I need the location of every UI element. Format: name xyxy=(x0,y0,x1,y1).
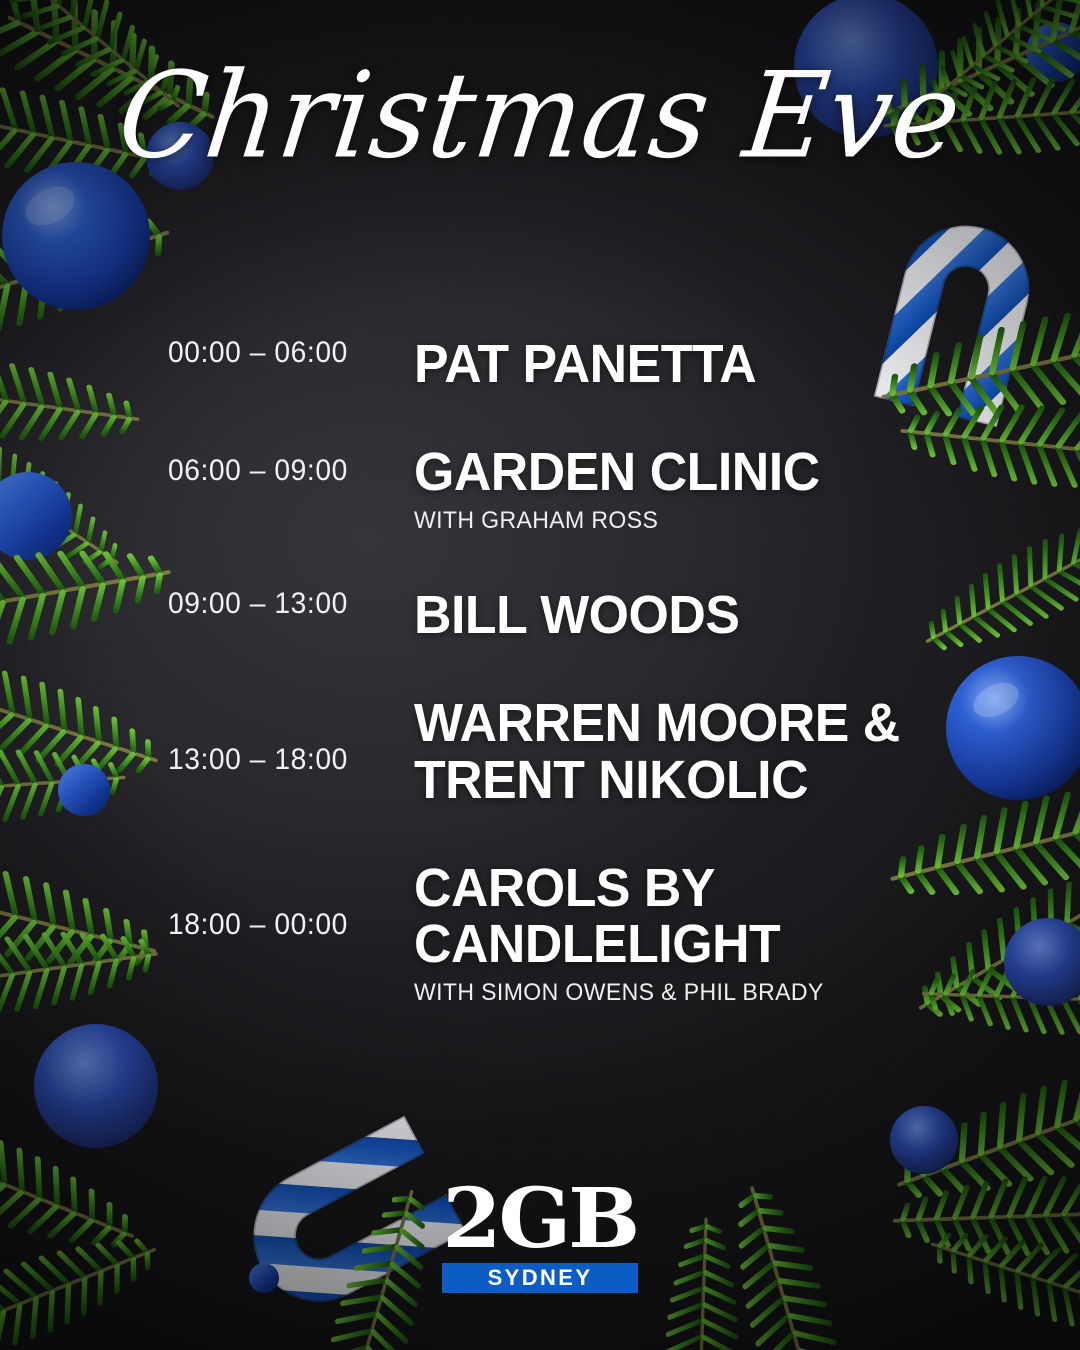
slot-body: CAROLS BY CANDLELIGHT WITH SIMON OWENS &… xyxy=(406,860,928,1007)
station-logo-city-bar: SYDNEY xyxy=(442,1263,638,1293)
slot-show-name: BILL WOODS xyxy=(414,587,907,643)
schedule-row: 06:00 – 09:00 GARDEN CLINIC WITH GRAHAM … xyxy=(168,444,928,535)
slot-body: PAT PANETTA xyxy=(406,336,928,392)
bauble-glitter-right-lower xyxy=(1004,918,1080,1006)
poster-title-wrap: Christmas Eve xyxy=(0,58,1080,174)
bauble-matte-right xyxy=(946,656,1080,800)
schedule-row: 13:00 – 18:00 WARREN MOORE & TRENT NIKOL… xyxy=(168,695,928,807)
station-logo-mark: 2GB xyxy=(443,1182,638,1257)
bauble-small-left xyxy=(0,472,72,560)
bauble-glitter-bottom-left xyxy=(34,1024,158,1148)
slot-time: 18:00 – 00:00 xyxy=(168,860,392,942)
slot-show-name: GARDEN CLINIC xyxy=(414,444,907,500)
slot-body: WARREN MOORE & TRENT NIKOLIC xyxy=(406,695,928,807)
fir-branch-left-mid xyxy=(0,532,175,825)
schedule-list: 00:00 – 06:00 PAT PANETTA 06:00 – 09:00 … xyxy=(168,336,928,1007)
slot-time: 00:00 – 06:00 xyxy=(168,336,392,370)
slot-show-name: WARREN MOORE & TRENT NIKOLIC xyxy=(414,695,907,807)
slot-body: GARDEN CLINIC WITH GRAHAM ROSS xyxy=(406,444,928,535)
slot-show-name: CAROLS BY CANDLELIGHT xyxy=(414,860,907,972)
bauble-glitter-bottom-right xyxy=(890,1106,958,1174)
station-logo-city: SYDNEY xyxy=(488,1265,593,1291)
christmas-eve-schedule-poster: Christmas Eve 00:00 – 06:00 PAT PANETTA … xyxy=(0,0,1080,1350)
schedule-row: 18:00 – 00:00 CAROLS BY CANDLELIGHT WITH… xyxy=(168,860,928,1007)
schedule-row: 00:00 – 06:00 PAT PANETTA xyxy=(168,336,928,392)
slot-time: 09:00 – 13:00 xyxy=(168,587,392,621)
slot-show-name: PAT PANETTA xyxy=(414,336,907,392)
bauble-small-left-lower xyxy=(58,764,110,816)
slot-time: 13:00 – 18:00 xyxy=(168,695,392,777)
fir-branch-left-lower xyxy=(0,858,163,1017)
schedule-row: 09:00 – 13:00 BILL WOODS xyxy=(168,587,928,643)
fir-branch-left-upper xyxy=(0,194,179,589)
slot-presenter: WITH SIMON OWENS & PHIL BRADY xyxy=(414,979,907,1007)
slot-presenter: WITH GRAHAM ROSS xyxy=(414,507,907,535)
station-logo: 2GB SYDNEY xyxy=(0,1182,1080,1293)
page-title: Christmas Eve xyxy=(112,55,967,178)
slot-time: 06:00 – 09:00 xyxy=(168,444,392,488)
slot-body: BILL WOODS xyxy=(406,587,928,643)
